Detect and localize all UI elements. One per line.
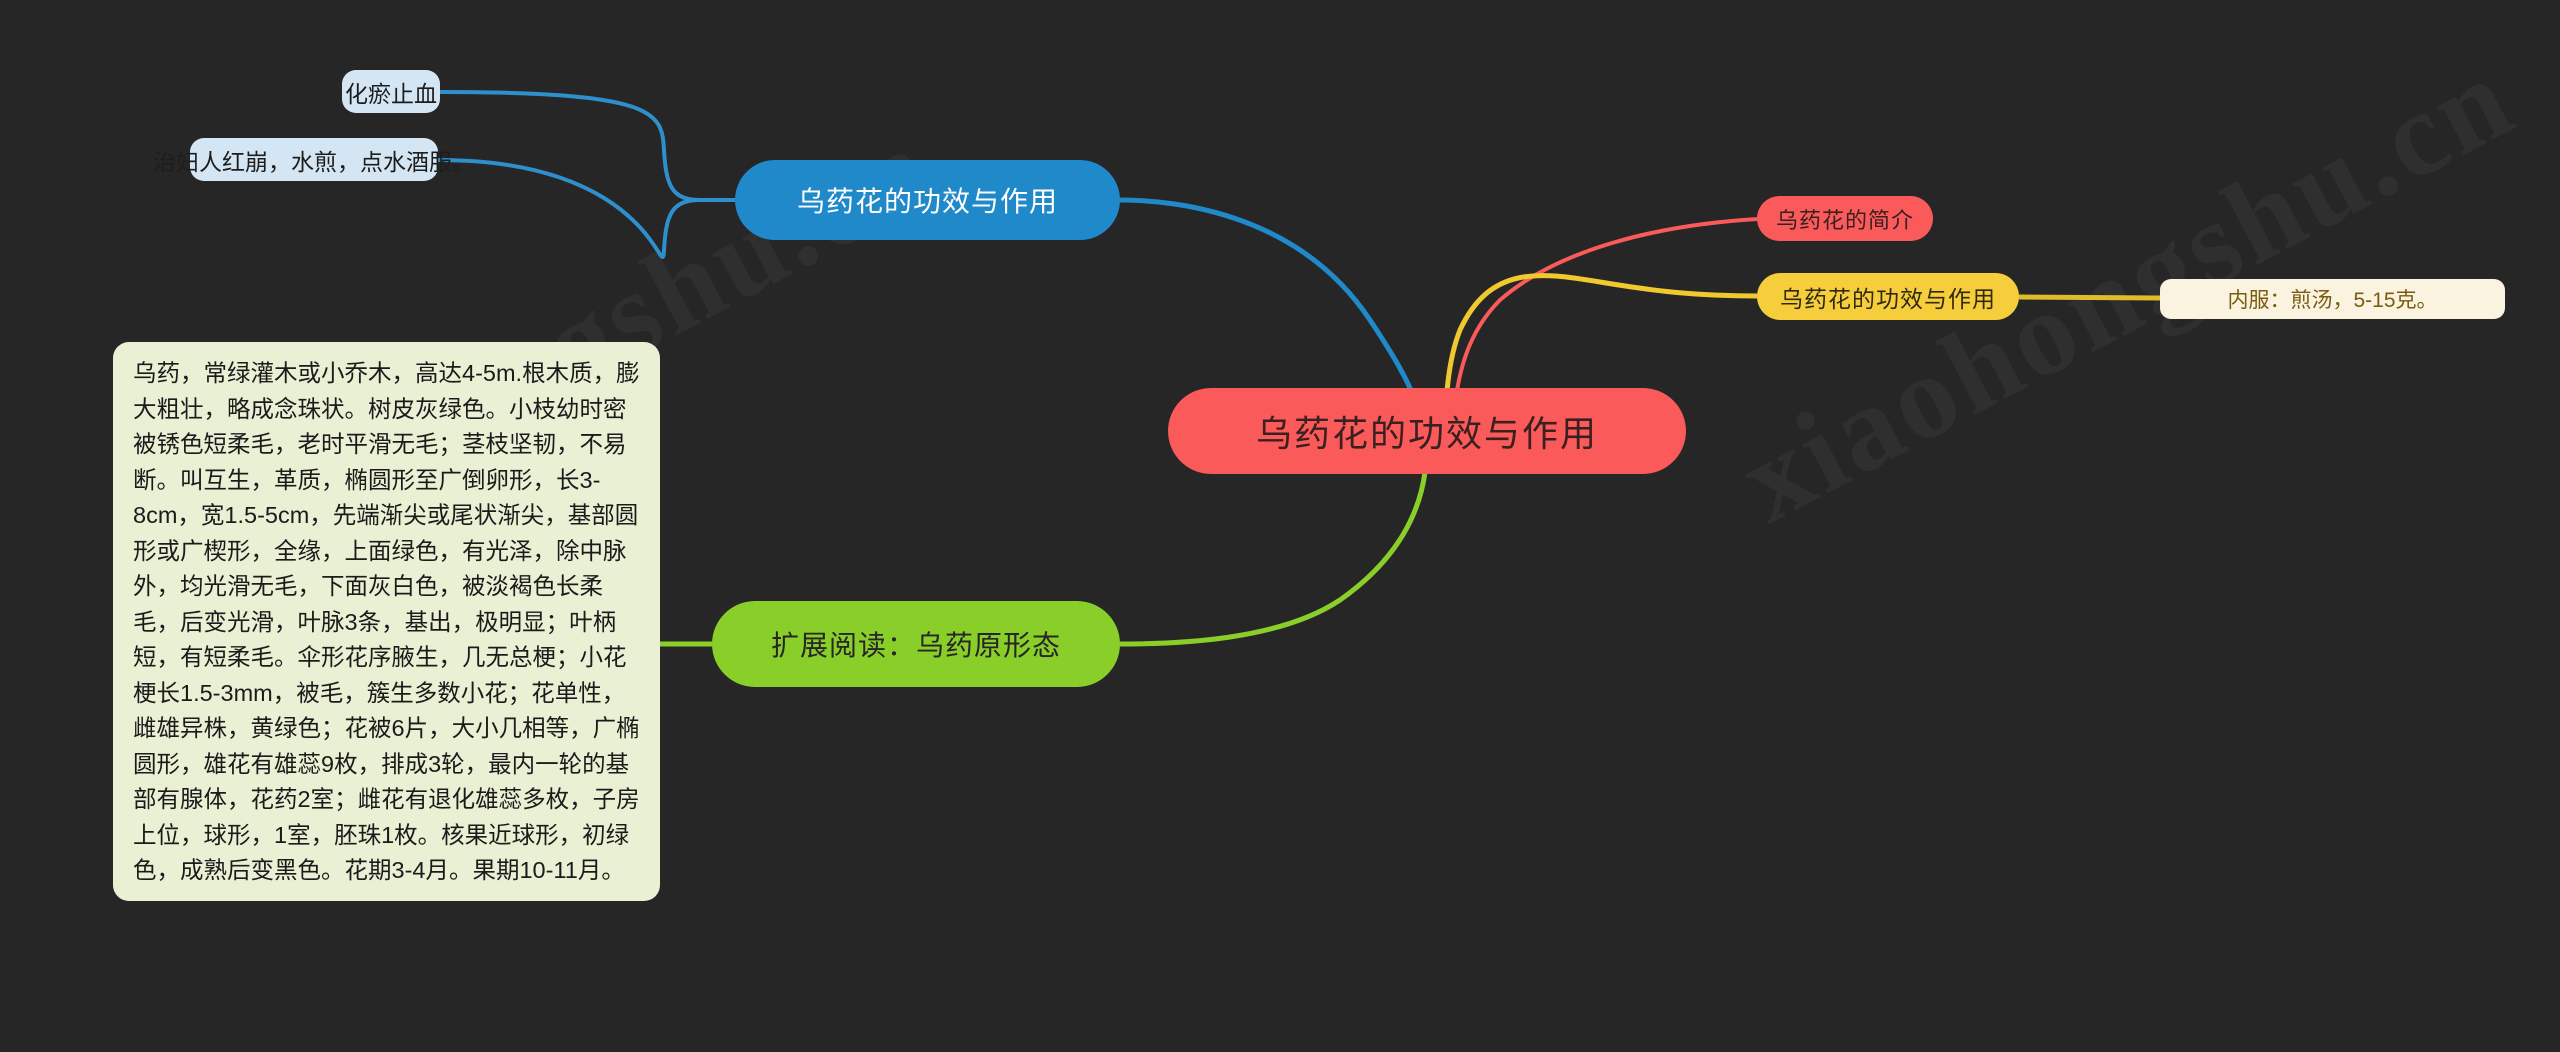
mindmap-canvas: xiaohongshu.cn xiaohongshu.cn 乌药花的功效与作用 … <box>0 0 2560 1052</box>
edge-root-to-green <box>1120 472 1425 644</box>
branch-node-label: 乌药花的功效与作用 <box>797 180 1058 220</box>
edge-blue-to-leaf-1 <box>440 92 735 200</box>
edge-blue-bracket-lower <box>655 160 664 218</box>
branch-node-reading-green[interactable]: 扩展阅读：乌药原形态 <box>712 601 1120 687</box>
leaf-node-label: 化瘀止血 <box>345 75 437 109</box>
leaf-node-hongbeng[interactable]: 治妇人红崩，水煎，点水酒服。 <box>190 138 438 181</box>
leaf-node-huayu[interactable]: 化瘀止血 <box>342 70 440 113</box>
leaf-node-label: 内服：煎汤，5-15克。 <box>2227 284 2437 314</box>
root-node-label: 乌药花的功效与作用 <box>1256 405 1598 457</box>
root-node[interactable]: 乌药花的功效与作用 <box>1168 388 1686 474</box>
leaf-node-morphology[interactable]: 乌药，常绿灌木或小乔木，高达4-5m.根木质，膨大粗壮，略成念珠状。树皮灰绿色。… <box>113 342 660 901</box>
branch-node-label: 扩展阅读：乌药原形态 <box>771 624 1061 664</box>
branch-node-intro-red[interactable]: 乌药花的简介 <box>1757 196 1933 241</box>
leaf-node-neifu[interactable]: 内服：煎汤，5-15克。 <box>2160 279 2505 319</box>
branch-node-efficacy-yellow[interactable]: 乌药花的功效与作用 <box>1757 273 2019 320</box>
branch-node-label: 乌药花的简介 <box>1776 203 1914 235</box>
branch-node-efficacy-blue[interactable]: 乌药花的功效与作用 <box>735 160 1120 240</box>
leaf-node-label: 治妇人红崩，水煎，点水酒服。 <box>153 143 475 177</box>
branch-node-label: 乌药花的功效与作用 <box>1780 280 1996 314</box>
